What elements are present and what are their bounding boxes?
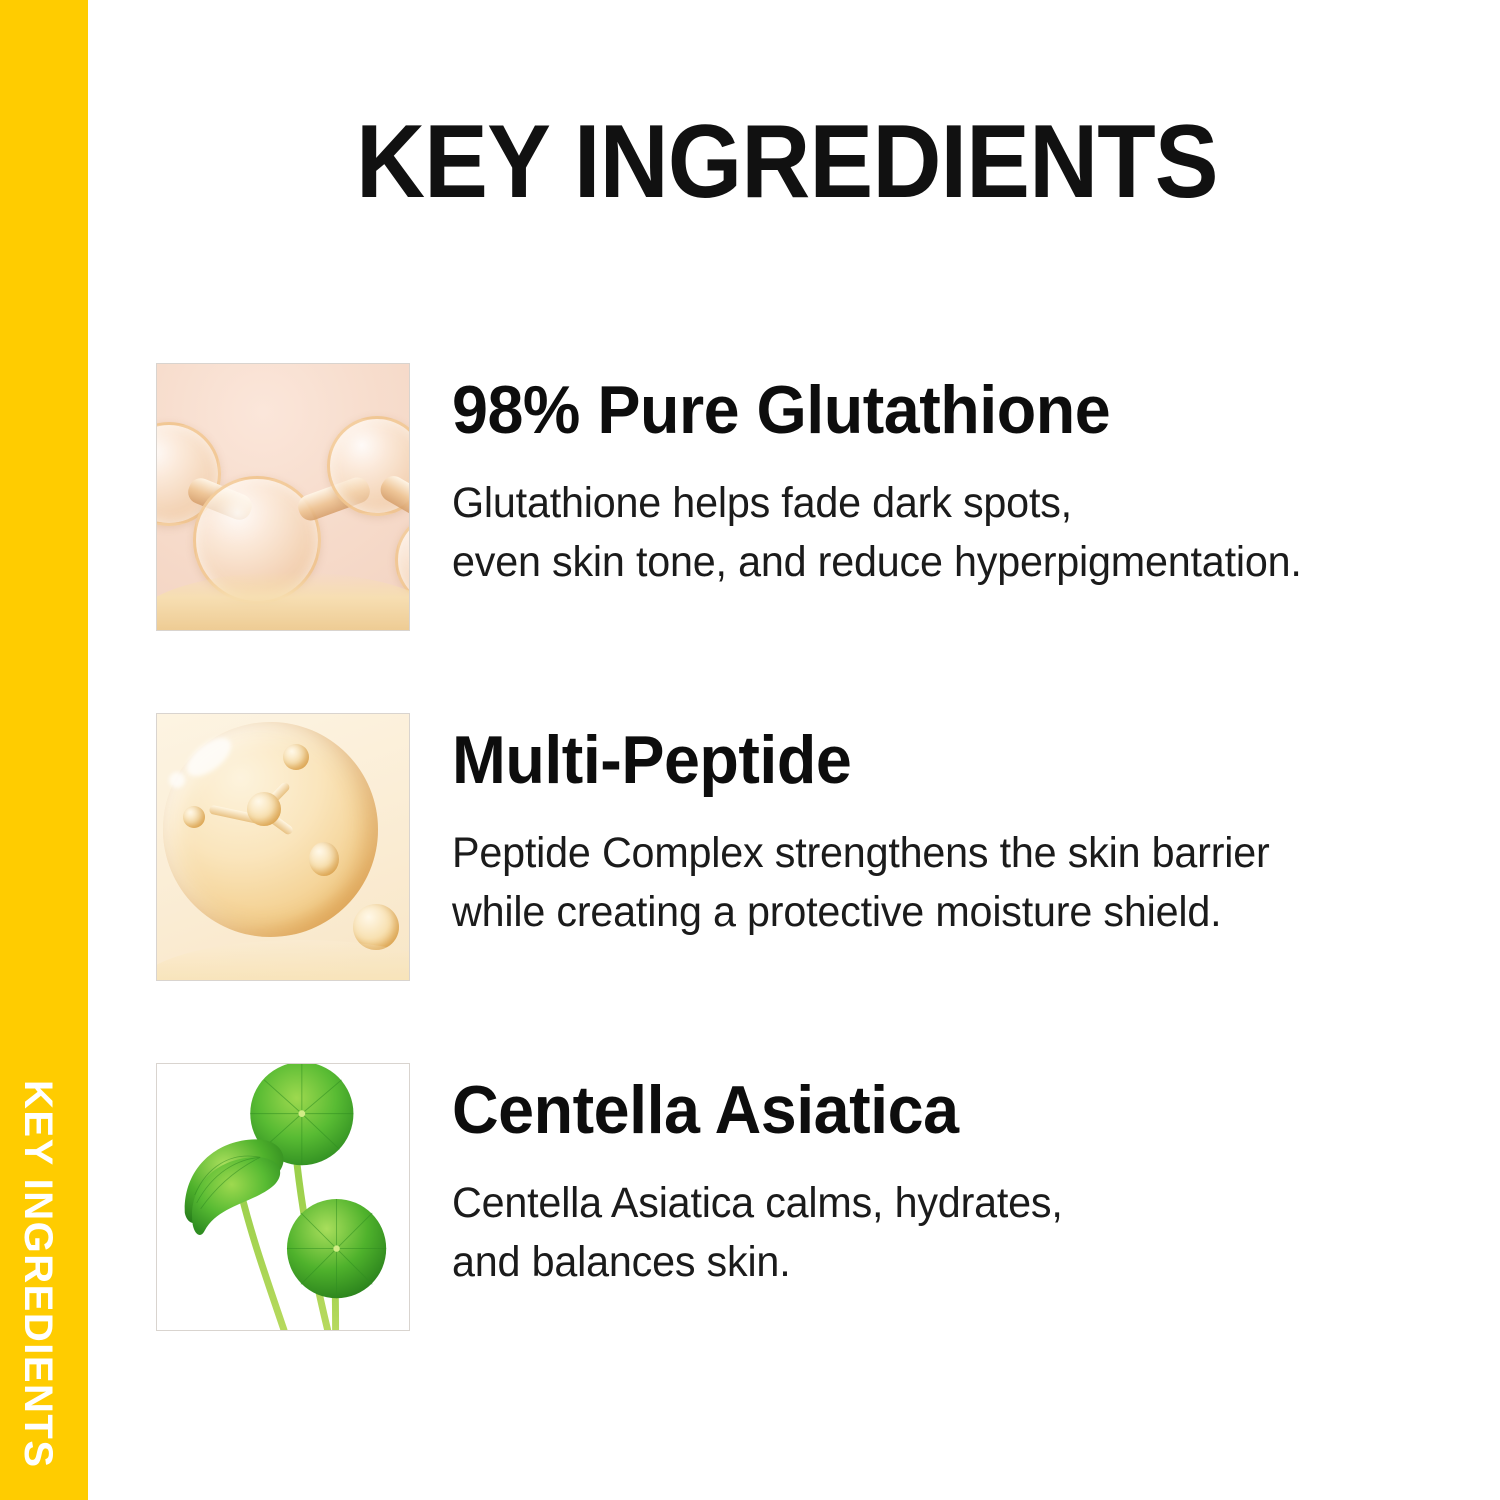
key-ingredients-infographic: KEY INGREDIENTS KEY INGREDIENTS 98% Pure…	[0, 0, 1500, 1500]
ingredient-text-block: Multi-Peptide Peptide Complex strengthen…	[452, 713, 1304, 942]
molecule-artwork	[157, 364, 409, 630]
ingredient-row: 98% Pure Glutathione Glutathione helps f…	[156, 363, 1456, 631]
droplet-artwork	[157, 714, 409, 980]
vertical-yellow-sidebar: KEY INGREDIENTS	[0, 0, 88, 1500]
ingredient-heading: Centella Asiatica	[452, 1075, 1056, 1146]
centella-leaves-photo	[156, 1063, 410, 1331]
ingredient-heading: Multi-Peptide	[452, 725, 1261, 796]
sidebar-vertical-label: KEY INGREDIENTS	[18, 1080, 58, 1469]
ingredient-row: Centella Asiatica Centella Asiatica calm…	[156, 1063, 1456, 1331]
peptide-droplet-photo	[156, 713, 410, 981]
liquid-wave	[156, 572, 410, 631]
leaf-icon	[157, 1064, 409, 1330]
ingredient-description: Peptide Complex strengthens the skin bar…	[452, 824, 1270, 943]
centella-leaf-artwork	[157, 1064, 409, 1330]
liquid-pool	[156, 940, 410, 981]
ingredient-description: Glutathione helps fade dark spots, even …	[452, 474, 1302, 593]
glutathione-molecule-photo	[156, 363, 410, 631]
ingredient-heading: 98% Pure Glutathione	[452, 375, 1293, 446]
ingredient-text-block: 98% Pure Glutathione Glutathione helps f…	[452, 363, 1337, 592]
ingredient-description: Centella Asiatica calms, hydrates, and b…	[452, 1174, 1063, 1293]
ingredient-text-block: Centella Asiatica Centella Asiatica calm…	[452, 1063, 1088, 1292]
page-title: KEY INGREDIENTS	[356, 108, 1218, 217]
ingredient-row: Multi-Peptide Peptide Complex strengthen…	[156, 713, 1456, 981]
